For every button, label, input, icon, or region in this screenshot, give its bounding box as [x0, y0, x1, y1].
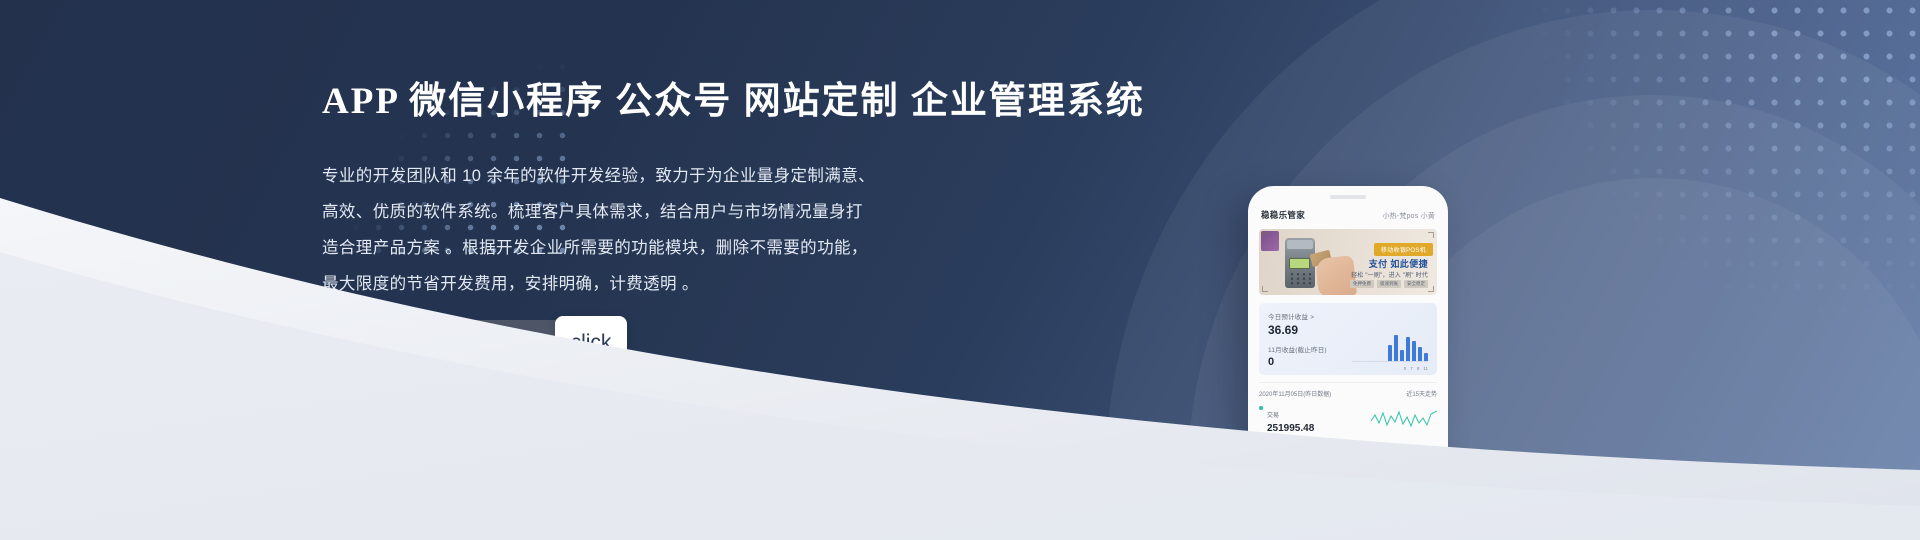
axis-tick: 7 — [1410, 366, 1413, 371]
pos-slot — [1287, 240, 1313, 249]
axis-tick: 5 — [1404, 366, 1407, 371]
stat-row[interactable]: 笔数 27 — [1259, 441, 1437, 471]
dot-pattern-top-right — [1510, 0, 1920, 376]
sparkline-count — [1371, 444, 1437, 468]
promo-banner[interactable]: 移动收银POS机 支付 如此便捷 轻松 "一刷"，进入 "刷" 时代 免押免费 … — [1259, 229, 1437, 295]
ring-outer — [1106, 0, 1920, 540]
today-earnings-label[interactable]: 今日预计收益 > — [1268, 311, 1428, 321]
stat-name: 交易 — [1267, 413, 1279, 419]
stat-value: 27 — [1267, 460, 1279, 471]
axis-tick: 9 — [1417, 366, 1420, 371]
stat-row[interactable]: 交易 251995.48 — [1259, 404, 1437, 434]
description-line: 高效、优质的软件系统。梳理客户具体需求，结合用户与市场情况量身打 — [322, 194, 1112, 230]
bar — [1394, 335, 1398, 361]
dot-pattern-bottom-left — [0, 300, 330, 540]
banner-chip: 免押免费 — [1350, 280, 1374, 288]
sparkline-merchants — [1371, 481, 1437, 505]
legend-dot-icon — [1259, 406, 1263, 410]
stat-name: 笔数 — [1267, 450, 1279, 456]
earnings-chart-baseline — [1352, 361, 1428, 362]
banner-corner-bl — [1262, 286, 1268, 292]
banner-subline: 轻松 "一刷"，进入 "刷" 时代 — [1351, 270, 1428, 279]
banner-headline: 支付 如此便捷 — [1369, 257, 1428, 270]
pos-screen — [1289, 258, 1310, 269]
hero-description: 专业的开发团队和 10 余年的软件开发经验，致力于为企业量身定制满意、 高效、优… — [322, 158, 1112, 302]
stats-section: 2020年11月05日(昨日数据) 近15天走势 交易 251995.48 — [1259, 382, 1437, 508]
stat-name: 交易商户 — [1267, 487, 1291, 493]
stats-trend-label: 近15天走势 — [1406, 389, 1437, 398]
bar — [1388, 345, 1392, 361]
app-user-name: 小热-梵pos 小黄 — [1382, 211, 1435, 221]
bar — [1424, 353, 1428, 361]
bar — [1412, 341, 1416, 361]
earnings-card[interactable]: 今日预计收益 > 36.69 11月收益(截止昨日) 0 5 7 9 11 — [1259, 303, 1437, 375]
bar — [1406, 337, 1410, 361]
bar — [1418, 347, 1422, 361]
stats-date: 2020年11月05日(昨日数据) — [1259, 389, 1331, 398]
earnings-chart-axis: 5 7 9 11 — [1404, 366, 1428, 371]
phone-mockup: 稳稳乐管家 小热-梵pos 小黄 移动收银POS机 支付 如此便捷 轻松 "一刷… — [1248, 186, 1448, 540]
earnings-bar-chart — [1388, 335, 1428, 361]
click-button[interactable]: click — [555, 316, 627, 370]
app-brand-name: 稳稳乐管家 — [1261, 209, 1305, 221]
stat-value: 251995.48 — [1267, 423, 1314, 434]
banner-corner-br — [1428, 286, 1434, 292]
banner-corner-tr — [1428, 232, 1434, 238]
pos-keypad — [1289, 272, 1311, 285]
hero-copy: APP 微信小程序 公众号 网站定制 企业管理系统 专业的开发团队和 10 余年… — [322, 70, 1112, 302]
banner-chip-list: 免押免费 极速到账 安全稳定 — [1350, 280, 1428, 288]
description-line: 最大限度的节省开发费用，安排明确，计费透明 。 — [322, 266, 1112, 302]
stat-row[interactable]: 交易商户 13 — [1259, 478, 1437, 508]
banner-chip: 安全稳定 — [1404, 280, 1428, 288]
pos-terminal-image — [1285, 238, 1315, 288]
banner-chip: 极速到账 — [1377, 280, 1401, 288]
legend-dot-icon — [1259, 443, 1263, 447]
cta-area: click — [322, 320, 565, 371]
banner-tag: 移动收银POS机 — [1374, 243, 1433, 256]
hero-banner: APP 微信小程序 公众号 网站定制 企业管理系统 专业的开发团队和 10 余年… — [0, 0, 1920, 540]
stat-value: 13 — [1267, 497, 1291, 508]
legend-dot-icon — [1259, 480, 1263, 484]
app-topbar: 稳稳乐管家 小热-梵pos 小黄 — [1248, 199, 1448, 229]
axis-tick: 11 — [1423, 366, 1428, 371]
description-line: 造合理产品方案 。根据开发企业所需要的功能模块，删除不需要的功能， — [322, 230, 1112, 266]
description-line: 专业的开发团队和 10 余年的软件开发经验，致力于为企业量身定制满意、 — [322, 158, 1112, 194]
cta-bar[interactable]: click — [322, 320, 565, 366]
banner-corner-tl — [1262, 232, 1268, 238]
dot-pattern-mid-left — [300, 380, 480, 540]
page-title: APP 微信小程序 公众号 网站定制 企业管理系统 — [322, 70, 1112, 124]
sparkline-transactions — [1371, 407, 1437, 431]
bar — [1400, 350, 1404, 361]
stats-header: 2020年11月05日(昨日数据) 近15天走势 — [1259, 389, 1437, 398]
